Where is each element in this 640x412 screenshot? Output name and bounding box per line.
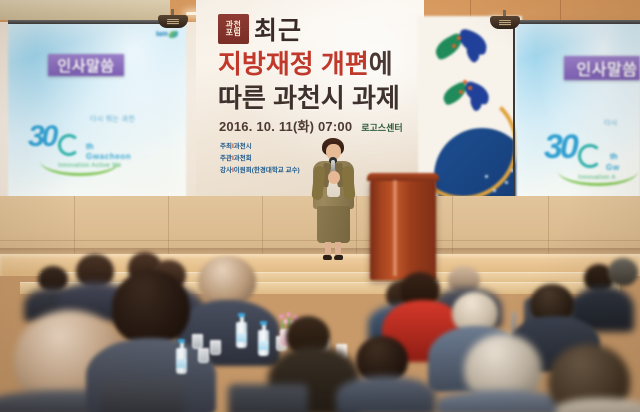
anniversary-logo-right: 다시 30 th Gw Innovation A [544,118,640,188]
speaker-skirt [317,206,350,243]
photo-scene: Iam 인사말씀 다시 뛰는 과천 30 th Gwacheon Innovat… [0,0,640,412]
anniversary-logo-left: 다시 뛰는 과천 30 th Gwacheon Innovation Activ… [28,112,178,178]
projector-left [158,9,188,29]
screen-rod [513,24,515,204]
banner-date: 2016. 10. 11(화) 07:00 [219,116,352,135]
screen-left-title: 인사말씀 [57,55,114,76]
credit-value: 과천시 [234,143,252,150]
credit-row: 강사I이원희(한경대학교 교수) [220,165,300,177]
screen-left-title-bar: 인사말씀 [48,54,124,76]
projection-screen-left: Iam 인사말씀 다시 뛰는 과천 30 th Gwacheon Innovat… [8,22,186,200]
banner-venue: 로고스센터 [361,121,402,134]
credit-row: 주관I과천회 [220,153,300,165]
water-glass [192,334,203,349]
water-bottle [236,322,247,348]
butterfly-icon [442,78,494,116]
audience-shoulders [436,390,566,412]
forum-badge-line2: 포럼 [226,29,242,37]
banner-headline-2-dark: 에 [369,49,393,79]
ceiling-soffit [0,0,170,20]
credit-role: 주최 [220,143,232,150]
banner-headline-3: 따른 과천시 과제 [218,78,400,115]
logo-korean-tagline: 다시 [604,118,617,128]
audience-shoulders [556,398,640,412]
projector-lens-icon [499,20,511,26]
banner-headline-2-red: 지방재정 개편 [218,49,369,79]
audience-shoulders [336,376,436,412]
audience-head-foreground [112,270,190,346]
projection-screen-right: 인사말씀 다시 30 th Gw Innovation A [516,22,640,204]
speaker-presenter [305,138,361,262]
credit-row: 주최I과천시 [220,141,300,153]
audience-head [198,256,256,306]
projector-lens-icon [167,19,179,25]
butterfly-icon [434,30,490,70]
projector-right [490,10,520,30]
banner-dateline: 2016. 10. 11(화) 07:00 로고스센터 [219,116,403,135]
logo-green-arc [558,156,638,186]
water-glass [210,340,221,355]
screen-right-title-bar: 인사말씀 [564,56,640,80]
credit-value: 과천회 [234,155,252,162]
logo-korean-tagline: 다시 뛰는 과천 [90,114,135,124]
credit-role: 강사 [220,167,232,174]
screen-right-title: 인사말씀 [577,56,638,80]
water-bottle [258,330,269,356]
leaf-icon [169,31,178,38]
iam-logo-left: Iam [156,31,178,38]
forum-badge: 과천 포럼 [218,14,249,44]
water-bottle [176,348,187,374]
audience-area [0,252,640,412]
screen-right-frame [514,20,640,24]
water-glass [198,348,209,363]
audience-head [608,258,638,286]
iam-logo-text: Iam [156,31,168,38]
credit-value: 이원희(한경대학교 교수) [234,167,300,174]
speaker-hands [328,171,340,184]
chair [228,384,308,412]
logo-green-arc [40,146,120,176]
credit-role: 주관 [220,155,232,162]
banner-headline-1: 최근 [254,11,302,47]
banner-credits: 주최I과천시 주관I과천회 강사I이원희(한경대학교 교수) [220,141,300,177]
banner-headline-2: 지방재정 개편에 [218,44,393,81]
chair [100,378,184,412]
